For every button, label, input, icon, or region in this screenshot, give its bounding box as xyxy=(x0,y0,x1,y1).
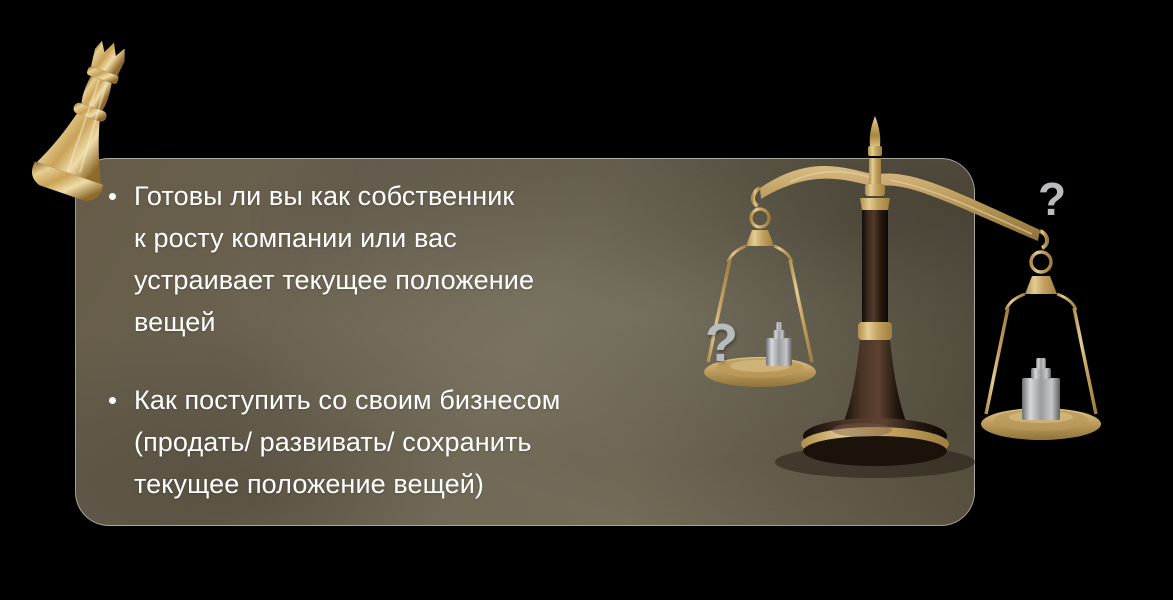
bullet-text-1: Готовы ли вы как собственник к росту ком… xyxy=(134,175,534,343)
bullet-list: Готовы ли вы как собственник к росту ком… xyxy=(109,175,709,505)
bullet-text-2: Как поступить со своим бизнесом (продать… xyxy=(134,379,560,505)
question-mark-right-icon: ? xyxy=(1038,176,1066,222)
right-pan xyxy=(981,408,1101,440)
column-finial xyxy=(870,116,881,146)
bullet-dot-icon xyxy=(109,193,116,200)
content-card: Готовы ли вы как собственник к росту ком… xyxy=(75,158,975,526)
slide-stage: Готовы ли вы как собственник к росту ком… xyxy=(0,0,1173,600)
right-pan-assembly xyxy=(981,252,1101,440)
list-item: Как поступить со своим бизнесом (продать… xyxy=(109,379,709,505)
right-hook-icon xyxy=(1040,231,1047,248)
list-item: Готовы ли вы как собственник к росту ком… xyxy=(109,175,709,343)
bullet-dot-icon xyxy=(109,397,116,404)
right-weight xyxy=(1022,358,1060,420)
